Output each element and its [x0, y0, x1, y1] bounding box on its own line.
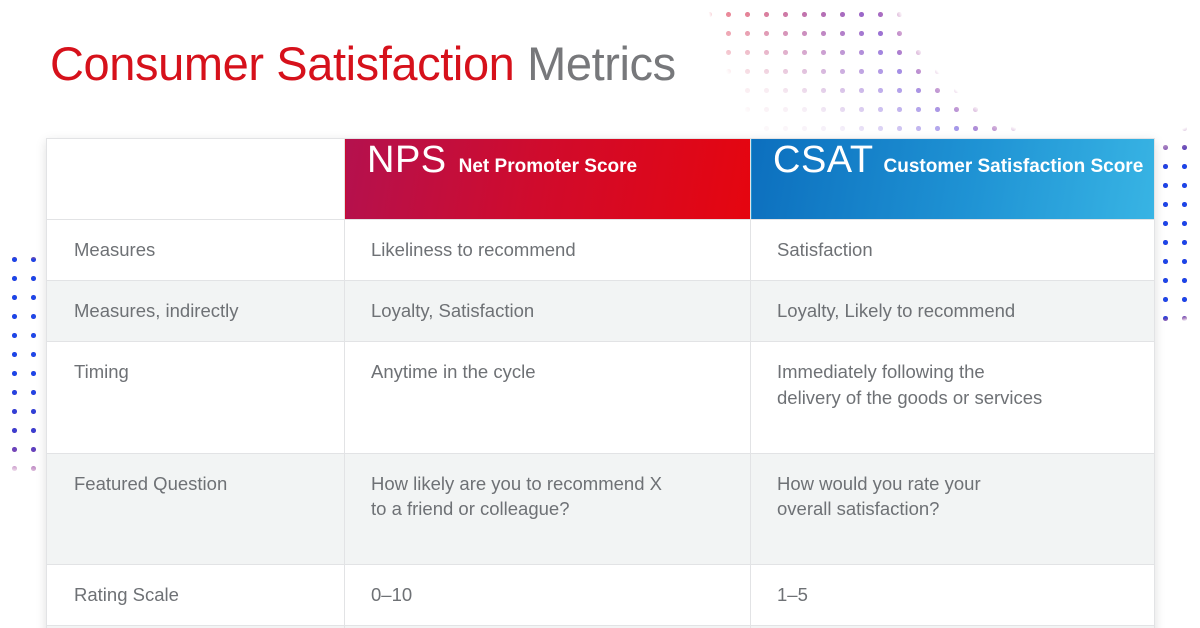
table-row: Measures, indirectly Loyalty, Satisfacti… — [47, 280, 1155, 341]
header-cell-nps: NPSNet Promoter Score — [345, 139, 751, 220]
row-label: Rating Scale — [47, 565, 345, 626]
row-value-nps: Anytime in the cycle — [345, 341, 751, 453]
page-title: Consumer Satisfaction Metrics — [50, 36, 676, 91]
row-value-nps: How likely are you to recommend X to a f… — [345, 453, 751, 565]
row-value-csat: Loyalty, Likely to recommend — [751, 280, 1155, 341]
table-header: NPSNet Promoter Score CSATCustomer Satis… — [47, 139, 1155, 220]
nps-full-name: Net Promoter Score — [459, 156, 637, 177]
cell-text-line: Loyalty, Likely to recommend — [777, 298, 1154, 324]
csat-abbreviation: CSAT — [773, 139, 874, 181]
row-label: Measures, indirectly — [47, 280, 345, 341]
row-value-csat: Satisfaction — [751, 220, 1155, 281]
header-cell-blank — [47, 139, 345, 220]
nps-abbreviation: NPS — [367, 139, 447, 181]
cell-text-line: Anytime in the cycle — [371, 359, 750, 385]
cell-text-line: 1–5 — [777, 582, 1154, 608]
cell-text-line: 0–10 — [371, 582, 750, 608]
metrics-comparison-table: NPSNet Promoter Score CSATCustomer Satis… — [46, 138, 1155, 628]
table-row: Featured Question How likely are you to … — [47, 453, 1155, 565]
csat-full-name: Customer Satisfaction Score — [884, 156, 1144, 177]
table-row: Timing Anytime in the cycle Immediately … — [47, 341, 1155, 453]
row-value-nps: Loyalty, Satisfaction — [345, 280, 751, 341]
cell-text-line: Satisfaction — [777, 237, 1154, 263]
table-body: Measures Likeliness to recommend Satisfa… — [47, 220, 1155, 628]
row-value-csat: How would you rate your overall satisfac… — [751, 453, 1155, 565]
cell-text-line: Loyalty, Satisfaction — [371, 298, 750, 324]
row-label: Measures — [47, 220, 345, 281]
table-row: Measures Likeliness to recommend Satisfa… — [47, 220, 1155, 281]
cell-text-line: Immediately following the — [777, 359, 1154, 385]
header-cell-csat: CSATCustomer Satisfaction Score — [751, 139, 1155, 220]
table-header-row: NPSNet Promoter Score CSATCustomer Satis… — [47, 139, 1155, 220]
cell-text-line: delivery of the goods or services — [777, 385, 1154, 411]
row-value-csat: 1–5 — [751, 565, 1155, 626]
page-title-accent: Consumer Satisfaction — [50, 37, 514, 90]
cell-text-line: overall satisfaction? — [777, 496, 1154, 522]
row-value-csat: Immediately following the delivery of th… — [751, 341, 1155, 453]
table-row: Rating Scale 0–10 1–5 — [47, 565, 1155, 626]
page-title-muted: Metrics — [527, 37, 676, 90]
row-label: Featured Question — [47, 453, 345, 565]
row-value-nps: 0–10 — [345, 565, 751, 626]
cell-text-line: to a friend or colleague? — [371, 496, 750, 522]
cell-text-line: How likely are you to recommend X — [371, 471, 750, 497]
row-value-nps: Likeliness to recommend — [345, 220, 751, 281]
row-label: Timing — [47, 341, 345, 453]
cell-text-line: Likeliness to recommend — [371, 237, 750, 263]
cell-text-line: How would you rate your — [777, 471, 1154, 497]
